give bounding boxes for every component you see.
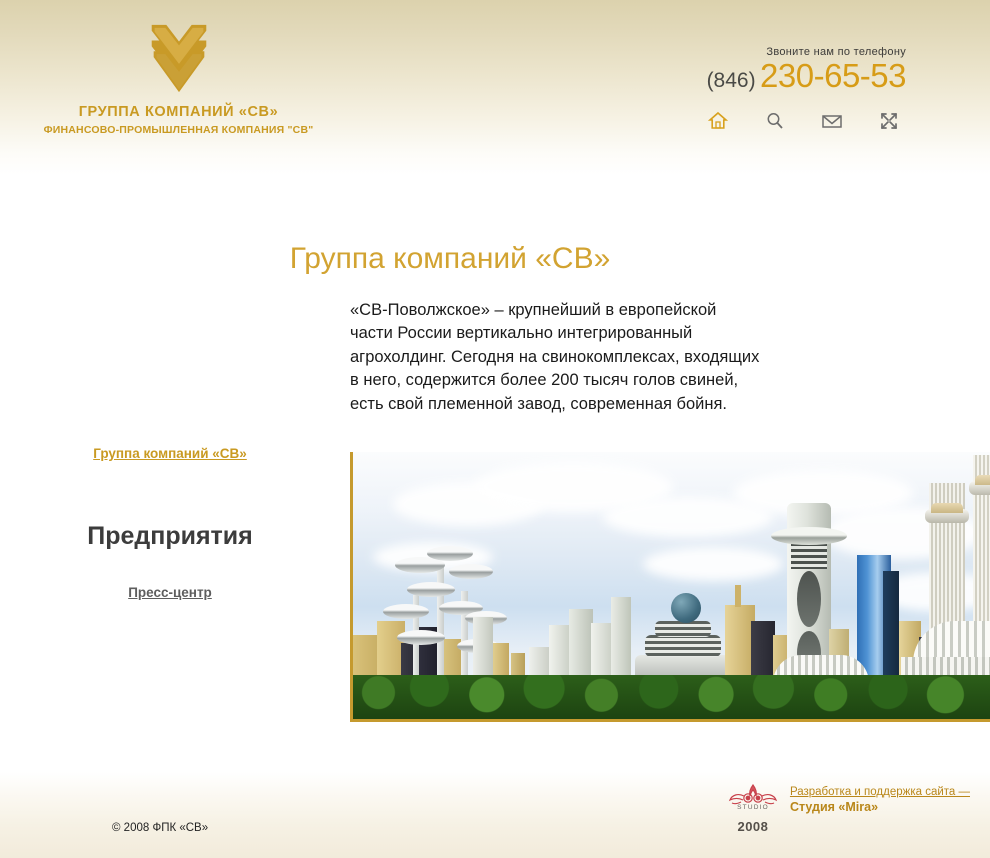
chevron-logo-icon: [142, 22, 216, 98]
globe-monument-tier: [645, 635, 721, 657]
nav-row-group: Группа компаний «СВ»: [0, 445, 340, 463]
site-footer: © 2008 ФПК «СВ» STUDIO: [0, 772, 990, 858]
phone-block: Звоните нам по телефону (846) 230-65-53: [707, 46, 906, 92]
supertower-right-cap: [975, 475, 990, 485]
phone-area-code: (846): [707, 69, 756, 92]
intro-paragraph: «СВ-Поволжское» – крупнейший в европейск…: [350, 299, 760, 417]
phone-number: 230-65-53: [760, 57, 906, 94]
studio-year: 2008: [724, 819, 782, 834]
pod-disc: [383, 604, 429, 619]
sidebar-item-enterprises[interactable]: Предприятия: [87, 522, 253, 551]
sidebar-item-group-of-companies[interactable]: Группа компаний «СВ»: [93, 446, 247, 461]
city-canvas: [353, 452, 990, 719]
site-header: ГРУППА КОМПАНИЙ «СВ» ФИНАНСОВО-ПРОМЫШЛЕН…: [0, 0, 990, 175]
pod-disc: [397, 630, 445, 645]
glass-tower-dark: [883, 571, 899, 683]
tree-line: [353, 675, 990, 719]
city-illustration: [350, 452, 990, 722]
header-icon-bar: [707, 110, 900, 132]
building-block: [569, 609, 593, 683]
nav-spacer-2: [0, 551, 340, 584]
building-spire: [735, 585, 741, 607]
building-block: [611, 597, 631, 683]
skyline-group: [353, 452, 990, 719]
hourglass-tower-cap: [771, 527, 847, 545]
search-icon[interactable]: [764, 110, 786, 132]
supertower-left-cap: [931, 503, 963, 513]
nav-spacer-1: [0, 463, 340, 522]
credits-block: STUDIO 2008 Разработка и поддержка сайта…: [724, 782, 970, 834]
globe-monument-tier: [655, 621, 711, 637]
hourglass-tower-collar: [791, 543, 827, 569]
sidebar-item-press-center[interactable]: Пресс-центр: [128, 585, 212, 600]
hourglass-tower-void: [797, 571, 821, 627]
globe-monument-sphere: [671, 593, 701, 623]
brand-subtitle: ФИНАНСОВО-ПРОМЫШЛЕННАЯ КОМПАНИЯ "СВ": [36, 124, 321, 136]
mail-icon[interactable]: [821, 110, 843, 132]
phone-line: (846) 230-65-53: [707, 59, 906, 92]
credit-link-development[interactable]: Разработка и поддержка сайта —: [790, 786, 970, 798]
studio-logo[interactable]: STUDIO 2008: [724, 782, 782, 834]
nav-row-press-center: Пресс-центр: [0, 584, 340, 602]
sitemap-expand-icon[interactable]: [878, 110, 900, 132]
credit-link-studio-mira[interactable]: Студия «Mira»: [790, 800, 970, 814]
nav-row-enterprises: Предприятия: [0, 522, 340, 551]
building-block: [751, 621, 775, 683]
page-title: Группа компаний «СВ»: [0, 242, 900, 276]
pod-disc: [449, 564, 493, 579]
brand-title: ГРУППА КОМПАНИЙ «СВ»: [36, 104, 321, 120]
studio-crown-icon: STUDIO: [724, 782, 782, 816]
pod-disc: [427, 546, 473, 561]
credit-text-block: Разработка и поддержка сайта — Студия «M…: [790, 782, 970, 814]
primary-navigation: Группа компаний «СВ» Предприятия Пресс-ц…: [0, 445, 340, 602]
home-icon[interactable]: [707, 110, 729, 132]
brand-block[interactable]: ГРУППА КОМПАНИЙ «СВ» ФИНАНСОВО-ПРОМЫШЛЕН…: [36, 22, 321, 136]
pod-disc: [407, 582, 455, 597]
building-block: [591, 623, 613, 683]
building-block: [473, 617, 493, 683]
copyright-text: © 2008 ФПК «СВ»: [112, 822, 208, 834]
page-root: ГРУППА КОМПАНИЙ «СВ» ФИНАНСОВО-ПРОМЫШЛЕН…: [0, 0, 990, 858]
svg-text:STUDIO: STUDIO: [737, 804, 769, 811]
